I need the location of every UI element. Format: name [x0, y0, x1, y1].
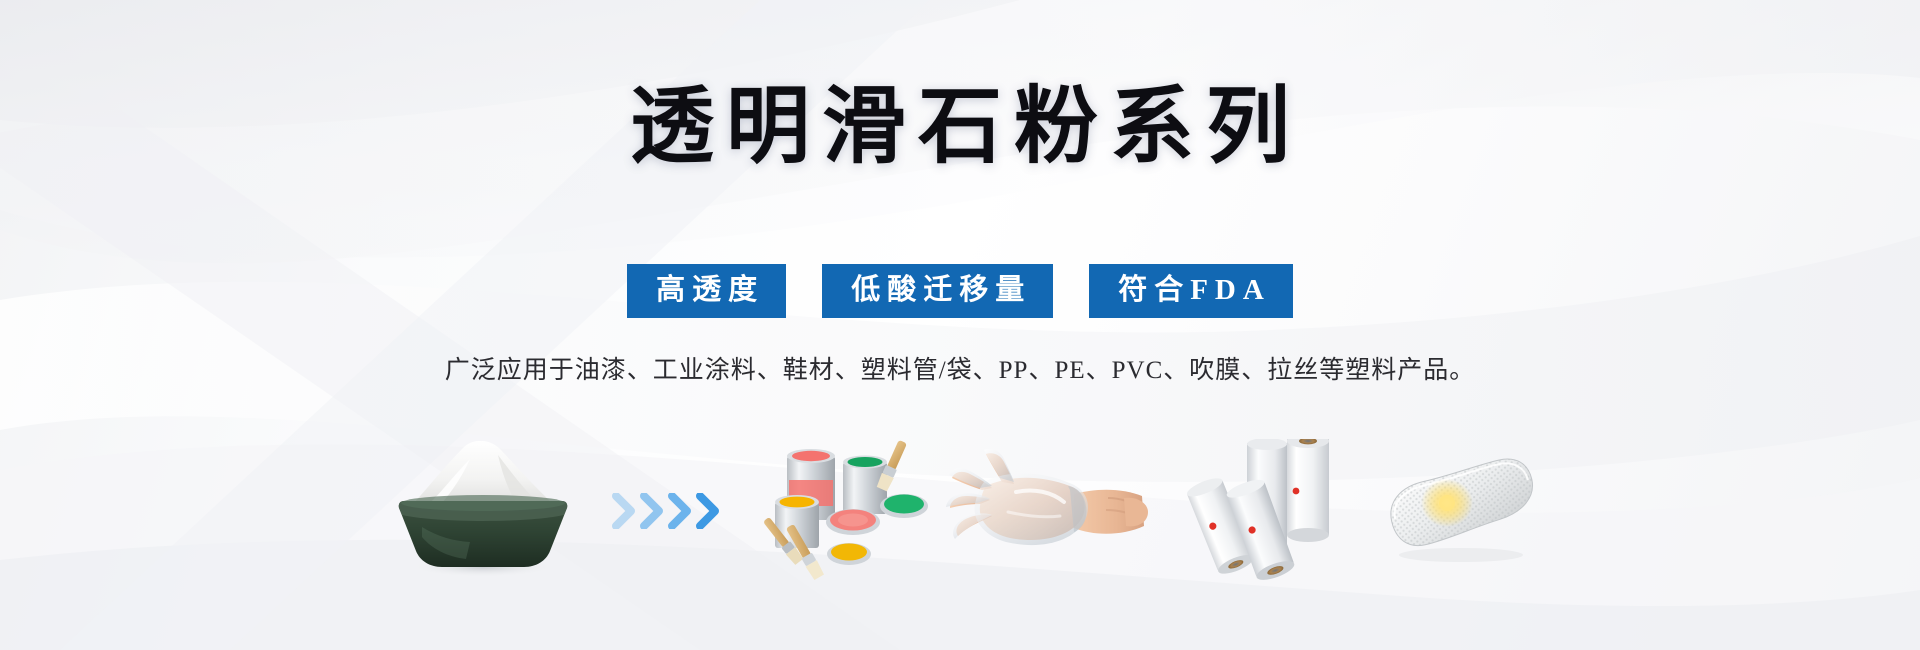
product-banner: 透明滑石粉系列 高透度 低酸迁移量 符合FDA 广泛应用于油漆、工业涂料、鞋材、… [0, 0, 1920, 650]
feature-badge-group: 高透度 低酸迁移量 符合FDA [627, 264, 1293, 318]
plastic-glove-hand-image [943, 436, 1155, 586]
talc-powder-bowl-image [370, 436, 597, 586]
flow-arrows [607, 436, 725, 586]
shoe-sole-image [1362, 436, 1550, 586]
banner-content: 透明滑石粉系列 高透度 低酸迁移量 符合FDA 广泛应用于油漆、工业涂料、鞋材、… [0, 0, 1920, 650]
chevron-right-icon [611, 493, 637, 529]
chevron-right-icon [695, 493, 721, 529]
paint-cans-icon [739, 436, 929, 586]
chevron-right-icon [639, 493, 665, 529]
badge-high-transparency[interactable]: 高透度 [627, 264, 786, 318]
talc-powder-bowl-icon [378, 441, 588, 581]
product-application-strip [370, 436, 1550, 586]
application-description: 广泛应用于油漆、工业涂料、鞋材、塑料管/袋、PP、PE、PVC、吹膜、拉丝等塑料… [445, 358, 1476, 383]
chevron-right-icon [667, 493, 693, 529]
badge-fda-compliant[interactable]: 符合FDA [1089, 264, 1293, 318]
paint-cans-image [735, 436, 932, 586]
plastic-film-rolls-icon [1169, 439, 1349, 584]
plastic-glove-hand-icon [946, 446, 1151, 576]
plastic-film-rolls-image [1165, 436, 1353, 586]
shoe-sole-icon [1369, 451, 1544, 571]
badge-low-acid-migration[interactable]: 低酸迁移量 [822, 264, 1053, 318]
page-title: 透明滑石粉系列 [618, 86, 1302, 170]
